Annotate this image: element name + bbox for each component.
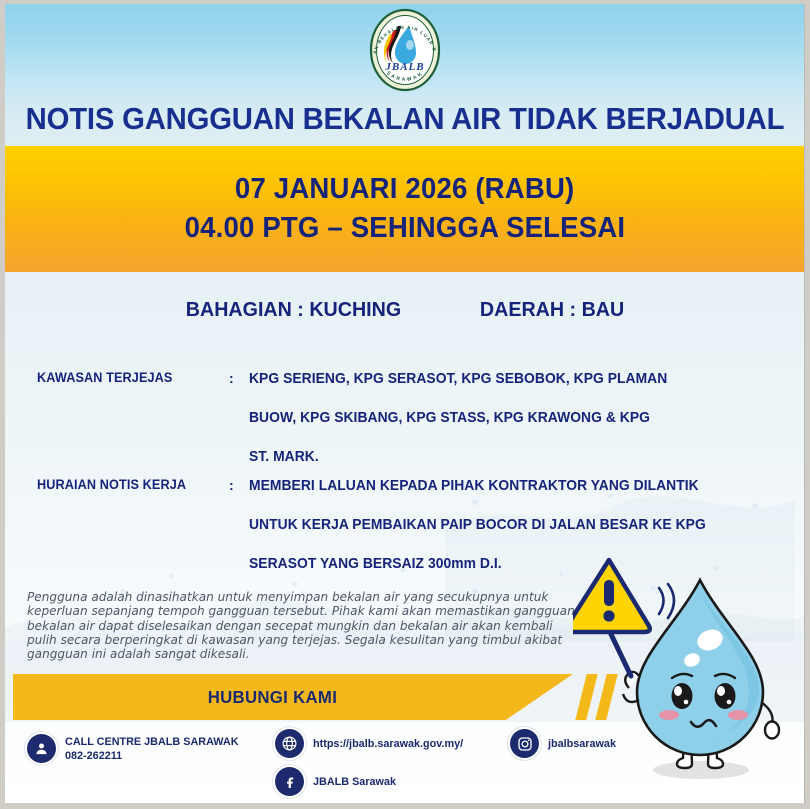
page-title: NOTIS GANGGUAN BEKALAN AIR TIDAK BERJADU… — [21, 102, 789, 137]
detail-label: HURAIAN NOTIS KERJA — [37, 477, 186, 492]
notice-poster: JBALB JABATAN BEKALAN AIR LUAR BANDAR SA… — [5, 4, 805, 804]
outage-date: 07 JANUARI 2026 (RABU) — [235, 173, 574, 206]
warning-triangle-icon — [573, 560, 650, 632]
person-icon — [27, 734, 56, 763]
bahagian-label: BAHAGIAN : KUCHING — [186, 298, 401, 322]
detail-colon: : — [229, 370, 234, 386]
detail-label: KAWASAN TERJEJAS — [37, 370, 172, 385]
region-line: BAHAGIAN : KUCHING DAERAH : BAU — [21, 298, 789, 322]
call-centre-number: 082-262211 — [65, 750, 122, 762]
header-banner: JBALB JABATAN BEKALAN AIR LUAR BANDAR SA… — [5, 4, 805, 146]
detail-value: KPG SERIENG, KPG SERASOT, KPG SEBOBOK, K… — [249, 370, 779, 487]
water-droplet-mascot — [573, 552, 805, 790]
contact-text: CALL CENTRE JBALB SARAWAK 082-262211 — [65, 735, 239, 763]
contact-facebook[interactable]: JBALB Sarawak — [275, 767, 400, 796]
outage-time: 04.00 PTG – SEHINGGA SELESAI — [185, 212, 626, 245]
call-centre-name: CALL CENTRE JBALB SARAWAK — [65, 736, 239, 748]
detail-colon: : — [229, 477, 234, 493]
contact-banner: HUBUNGI KAMI — [13, 674, 573, 720]
date-banner: 07 JANUARI 2026 (RABU) 04.00 PTG – SEHIN… — [5, 146, 805, 272]
advisory-paragraph: Pengguna adalah dinasihatkan untuk menyi… — [27, 590, 583, 661]
daerah-label: DAERAH : BAU — [480, 298, 624, 322]
facebook-icon — [275, 767, 304, 796]
detail-line: UNTUK KERJA PEMBAIKAN PAIP BOCOR DI JALA… — [249, 516, 753, 555]
website-url: https://jbalb.sarawak.gov.my/ — [313, 737, 463, 751]
detail-line: MEMBERI LALUAN KEPADA PIHAK KONTRAKTOR Y… — [249, 477, 753, 516]
detail-line: KPG SERIENG, KPG SERASOT, KPG SEBOBOK, K… — [249, 370, 753, 409]
jbalb-sarawak-logo: JBALB JABATAN BEKALAN AIR LUAR BANDAR SA… — [368, 8, 442, 92]
svg-text:JBALB: JBALB — [384, 61, 424, 73]
detail-line: BUOW, KPG SKIBANG, KPG STASS, KPG KRAWON… — [249, 409, 753, 448]
facebook-page: JBALB Sarawak — [313, 775, 396, 789]
globe-icon — [275, 729, 304, 758]
contact-call-centre[interactable]: CALL CENTRE JBALB SARAWAK 082-262211 — [27, 734, 248, 763]
contact-banner-title: HUBUNGI KAMI — [207, 687, 336, 708]
notice-body: BAHAGIAN : KUCHING DAERAH : BAU KAWASAN … — [5, 272, 805, 804]
instagram-icon — [510, 729, 539, 758]
contact-website[interactable]: https://jbalb.sarawak.gov.my/ — [275, 729, 471, 758]
